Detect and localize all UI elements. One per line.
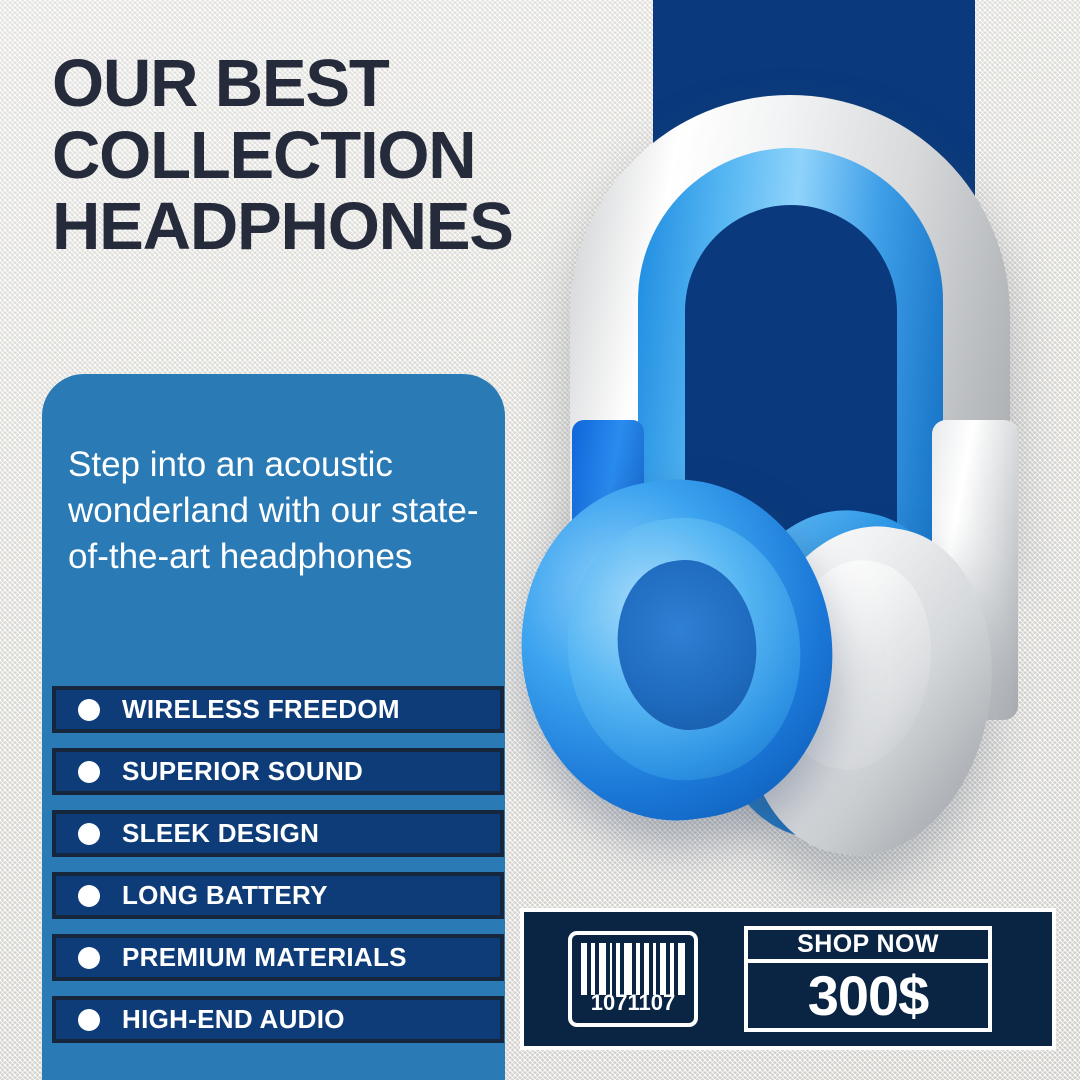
bullet-dot-icon <box>78 885 100 907</box>
barcode-icon: 1071107 <box>568 931 698 1027</box>
shop-now-button[interactable]: SHOP NOW 300$ <box>744 926 992 1032</box>
shop-now-label: SHOP NOW <box>748 930 988 963</box>
barcode-bar <box>653 943 656 995</box>
barcode-bar <box>616 943 620 995</box>
bullet-dot-icon <box>78 823 100 845</box>
headline-line-1: OUR BEST <box>52 48 652 120</box>
barcode-bar <box>660 943 666 995</box>
barcode-bar <box>591 943 594 995</box>
barcode-bar <box>670 943 674 995</box>
page-title: OUR BEST COLLECTION HEADPHONES <box>52 48 652 263</box>
headline-line-3: HEADPHONES <box>52 191 652 263</box>
bullet-dot-icon <box>78 699 100 721</box>
feature-label: LONG BATTERY <box>122 880 328 911</box>
list-item[interactable]: LONG BATTERY <box>52 872 504 919</box>
barcode-bars <box>581 943 685 995</box>
list-item[interactable]: HIGH-END AUDIO <box>52 996 504 1043</box>
barcode-bar <box>610 943 613 995</box>
feature-label: SLEEK DESIGN <box>122 818 319 849</box>
feature-label: SUPERIOR SOUND <box>122 756 363 787</box>
barcode-bar <box>678 943 685 995</box>
feature-label: PREMIUM MATERIALS <box>122 942 407 973</box>
bullet-dot-icon <box>78 947 100 969</box>
barcode-number: 1071107 <box>572 990 694 1016</box>
list-item[interactable]: SUPERIOR SOUND <box>52 748 504 795</box>
info-card: Step into an acoustic wonderland with ou… <box>42 374 505 1080</box>
bullet-dot-icon <box>78 1009 100 1031</box>
barcode-bar <box>636 943 639 995</box>
card-description: Step into an acoustic wonderland with ou… <box>68 442 488 581</box>
list-item[interactable]: PREMIUM MATERIALS <box>52 934 504 981</box>
list-item[interactable]: SLEEK DESIGN <box>52 810 504 857</box>
barcode-bar <box>644 943 649 995</box>
list-item[interactable]: WIRELESS FREEDOM <box>52 686 504 733</box>
feature-label: WIRELESS FREEDOM <box>122 694 400 725</box>
barcode-bar <box>581 943 587 995</box>
barcode-bar <box>624 943 632 995</box>
feature-label: HIGH-END AUDIO <box>122 1004 345 1035</box>
price-panel: 1071107 SHOP NOW 300$ <box>520 908 1056 1050</box>
bullet-dot-icon <box>78 761 100 783</box>
feature-list: WIRELESS FREEDOM SUPERIOR SOUND SLEEK DE… <box>52 686 504 1058</box>
barcode-bar <box>599 943 606 995</box>
price-value: 300$ <box>748 963 988 1028</box>
headline-line-2: COLLECTION <box>52 120 652 192</box>
